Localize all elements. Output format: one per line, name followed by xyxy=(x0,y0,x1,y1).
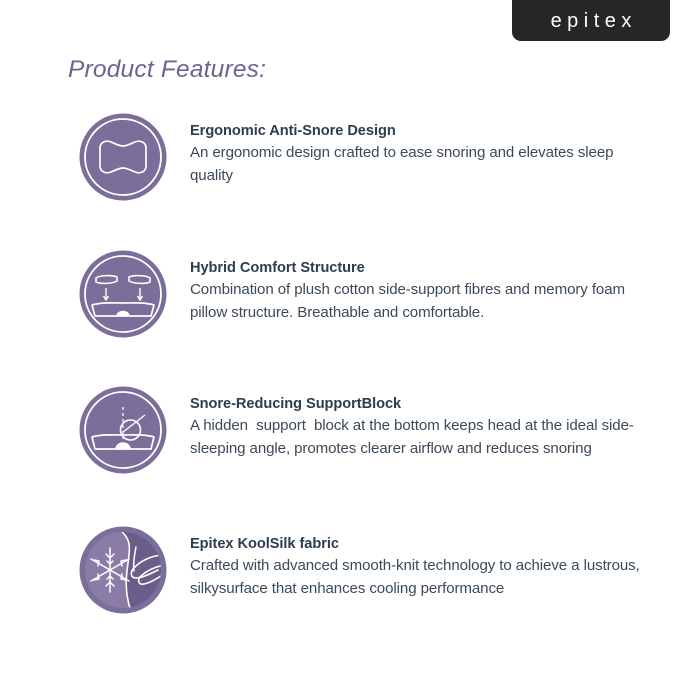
feature-heading: Epitex KoolSilk fabric xyxy=(190,534,700,555)
head-angle-pillow-icon xyxy=(78,385,168,475)
page-title: Product Features: xyxy=(68,56,266,84)
feature-description: Crafted with advanced smooth-knit techno… xyxy=(190,555,640,600)
contoured-pillow-icon xyxy=(78,112,168,202)
feature-description: A hidden support block at the bottom kee… xyxy=(190,415,640,460)
feature-heading: Snore-Reducing SupportBlock xyxy=(190,394,700,415)
epitex-logo: epitex xyxy=(512,0,670,41)
feature-text-block: Ergonomic Anti-Snore Design An ergonomic… xyxy=(168,112,700,187)
feature-item: Ergonomic Anti-Snore Design An ergonomic… xyxy=(0,112,700,202)
logo-wordmark: epitex xyxy=(545,11,637,31)
feature-item: Snore-Reducing SupportBlock A hidden sup… xyxy=(0,385,700,475)
feature-item: Epitex KoolSilk fabric Crafted with adva… xyxy=(0,525,700,615)
layered-pillow-icon xyxy=(78,249,168,339)
feature-item: Hybrid Comfort Structure Combination of … xyxy=(0,249,700,339)
feature-text-block: Snore-Reducing SupportBlock A hidden sup… xyxy=(168,385,700,460)
feature-text-block: Hybrid Comfort Structure Combination of … xyxy=(168,249,700,324)
feature-list: Ergonomic Anti-Snore Design An ergonomic… xyxy=(0,112,700,615)
feature-description: An ergonomic design crafted to ease snor… xyxy=(190,142,640,187)
snowflake-fabric-icon xyxy=(78,525,168,615)
product-features-page: epitex Product Features: Ergonomic Anti-… xyxy=(0,0,700,700)
feature-description: Combination of plush cotton side-support… xyxy=(190,279,640,324)
feature-heading: Ergonomic Anti-Snore Design xyxy=(190,121,700,142)
feature-text-block: Epitex KoolSilk fabric Crafted with adva… xyxy=(168,525,700,600)
feature-heading: Hybrid Comfort Structure xyxy=(190,258,700,279)
